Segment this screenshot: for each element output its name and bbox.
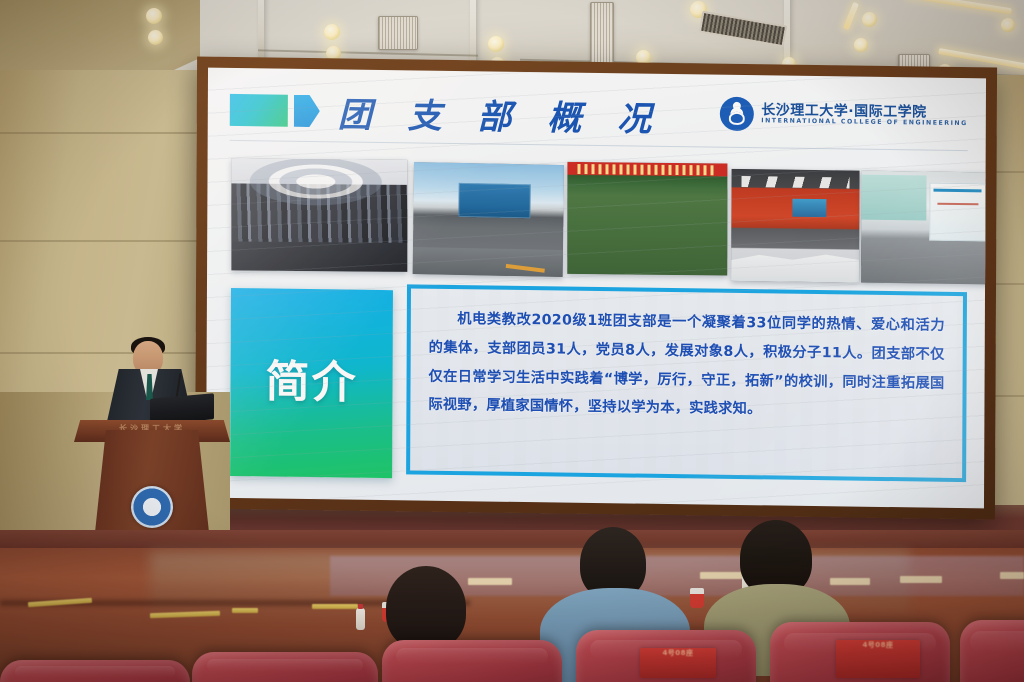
university-seal-icon (131, 486, 173, 528)
ceiling-strip-light (906, 0, 1012, 14)
desk-paper (1000, 572, 1024, 579)
intro-text-box: 机电类教改2020级1班团支部是一个凝聚着33位同学的热情、爱心和活力的集体，支… (406, 284, 967, 482)
intro-card: 简介 (230, 288, 393, 478)
audience-head (386, 566, 466, 650)
floor-tape-marker (312, 604, 358, 609)
header-divider (230, 140, 968, 151)
floor-tape-marker (232, 608, 258, 613)
university-brand: 长沙理工大学·国际工学院 INTERNATIONAL COLLEGE OF EN… (720, 97, 968, 134)
ceiling-downlight (862, 12, 877, 27)
projection-screen-frame: 团 支 部 概 况 长沙理工大学·国际工学院 INTERNATIONAL COL… (195, 56, 997, 519)
desk-paper (900, 576, 942, 583)
intro-card-label: 简介 (265, 355, 357, 411)
ceiling-downlight (1001, 18, 1015, 32)
slide-header: 团 支 部 概 况 长沙理工大学·国际工学院 INTERNATIONAL COL… (208, 68, 986, 161)
photo-thumbnail (731, 169, 860, 283)
photo-thumbnail (413, 162, 564, 277)
photo-thumbnail (861, 171, 986, 285)
intro-body-text: 机电类教改2020级1班团支部是一个凝聚着33位同学的热情、爱心和活力的集体，支… (428, 305, 945, 427)
university-emblem-icon (720, 97, 754, 131)
header-gradient-bar-icon (230, 94, 288, 127)
photo-strip (231, 156, 968, 286)
ceiling-downlight (488, 36, 504, 52)
auditorium-seat[interactable] (960, 620, 1024, 682)
ceiling-air-vent (699, 11, 788, 48)
desk-paper (700, 572, 746, 579)
brand-name-en: INTERNATIONAL COLLEGE OF ENGINEERING (761, 118, 968, 127)
ceiling-beam (258, 0, 264, 66)
ceiling-downlight (148, 30, 163, 45)
auditorium-seat[interactable] (0, 660, 190, 682)
seat-number-tag: 4号08座 (836, 640, 920, 678)
water-bottle (356, 608, 365, 630)
paper-cup (690, 588, 704, 608)
photo-thumbnail (231, 158, 407, 272)
seat-number-label: 4号08座 (836, 640, 920, 652)
ceiling-seam (258, 49, 478, 56)
ceiling-strip-light (843, 2, 859, 30)
ceiling-downlight (146, 8, 162, 24)
auditorium-seat[interactable] (382, 640, 562, 682)
slide-title: 团 支 部 概 况 (338, 87, 664, 140)
ceiling-air-vent (590, 2, 614, 68)
desk-paper (830, 578, 870, 585)
header-arrow-icon (294, 95, 320, 127)
auditorium-scene: 团 支 部 概 况 长沙理工大学·国际工学院 INTERNATIONAL COL… (0, 0, 1024, 682)
desk-paper (468, 578, 512, 585)
seat-number-label: 4号08座 (640, 648, 716, 660)
ceiling-downlight (854, 38, 868, 52)
photo-thumbnail (567, 162, 727, 276)
ceiling-air-vent (378, 16, 418, 50)
presentation-slide: 团 支 部 概 况 长沙理工大学·国际工学院 INTERNATIONAL COL… (206, 68, 986, 509)
auditorium-seat[interactable] (192, 652, 378, 682)
ceiling-downlight (324, 24, 340, 40)
seat-number-tag: 4号08座 (640, 648, 716, 678)
